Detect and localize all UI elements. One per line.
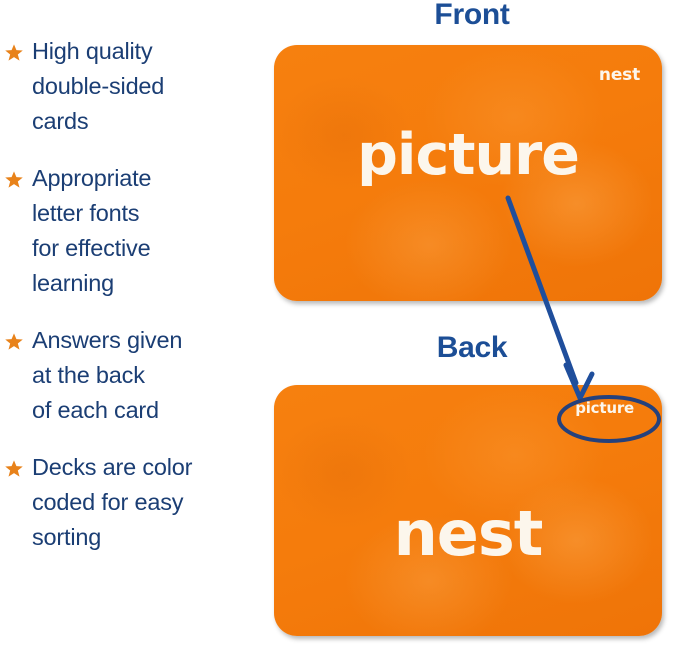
front-card-corner-tag: nest [599,65,640,85]
list-item: Decks are color coded for easy sorting [0,450,262,555]
list-item-label: Decks are color coded for easy sorting [32,450,262,555]
star-icon [4,170,24,190]
list-item-label: High quality double-sided cards [32,34,262,139]
star-icon [4,332,24,352]
card-showcase: Front nest picture Back picture nest [265,0,679,649]
star-icon [4,459,24,479]
feature-list: High quality double-sided cards Appropri… [0,34,262,577]
list-item-label: Answers given at the back of each card [32,323,262,428]
front-flashcard: nest picture [274,45,662,301]
star-icon [4,43,24,63]
list-item-label: Appropriate letter fonts for effective l… [32,161,262,301]
front-card-title: Front [265,0,679,32]
list-item: Answers given at the back of each card [0,323,262,428]
front-card-word: picture [274,122,662,188]
back-card-word: nest [274,497,662,570]
back-card-corner-tag: picture [575,399,634,417]
back-flashcard: picture nest [274,385,662,636]
list-item: High quality double-sided cards [0,34,262,139]
list-item: Appropriate letter fonts for effective l… [0,161,262,301]
back-card-title: Back [265,331,679,365]
